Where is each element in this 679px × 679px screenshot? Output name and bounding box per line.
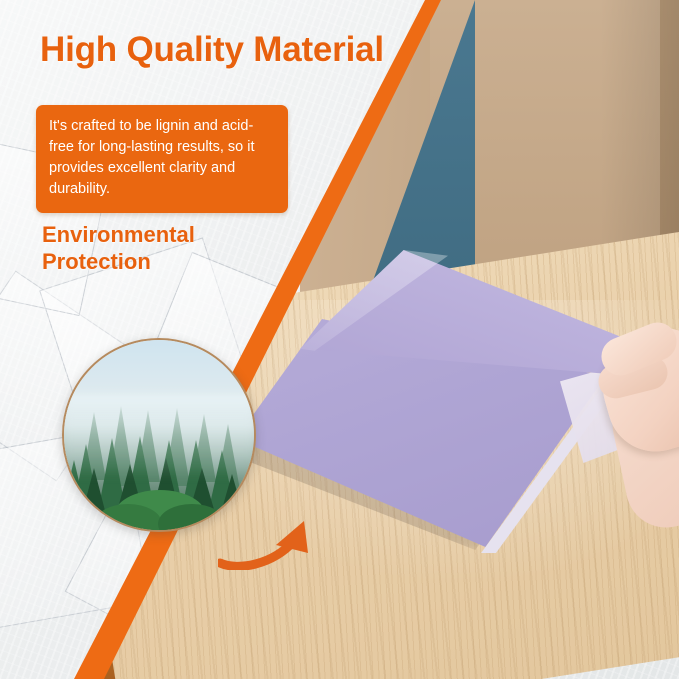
forest-circle-photo (62, 338, 256, 532)
callout-text: It's crafted to be lignin and acid-free … (49, 116, 275, 200)
feature-subtitle: Environmental Protection (42, 222, 195, 276)
feature-subtitle-line1: Environmental (42, 222, 195, 249)
curved-arrow-icon (218, 505, 328, 570)
infographic-canvas: High Quality Material It's crafted to be… (0, 0, 679, 679)
forest-fog (64, 393, 254, 479)
feature-subtitle-line2: Protection (42, 249, 195, 276)
page-title: High Quality Material (40, 30, 384, 70)
callout-box: It's crafted to be lignin and acid-free … (36, 105, 288, 213)
